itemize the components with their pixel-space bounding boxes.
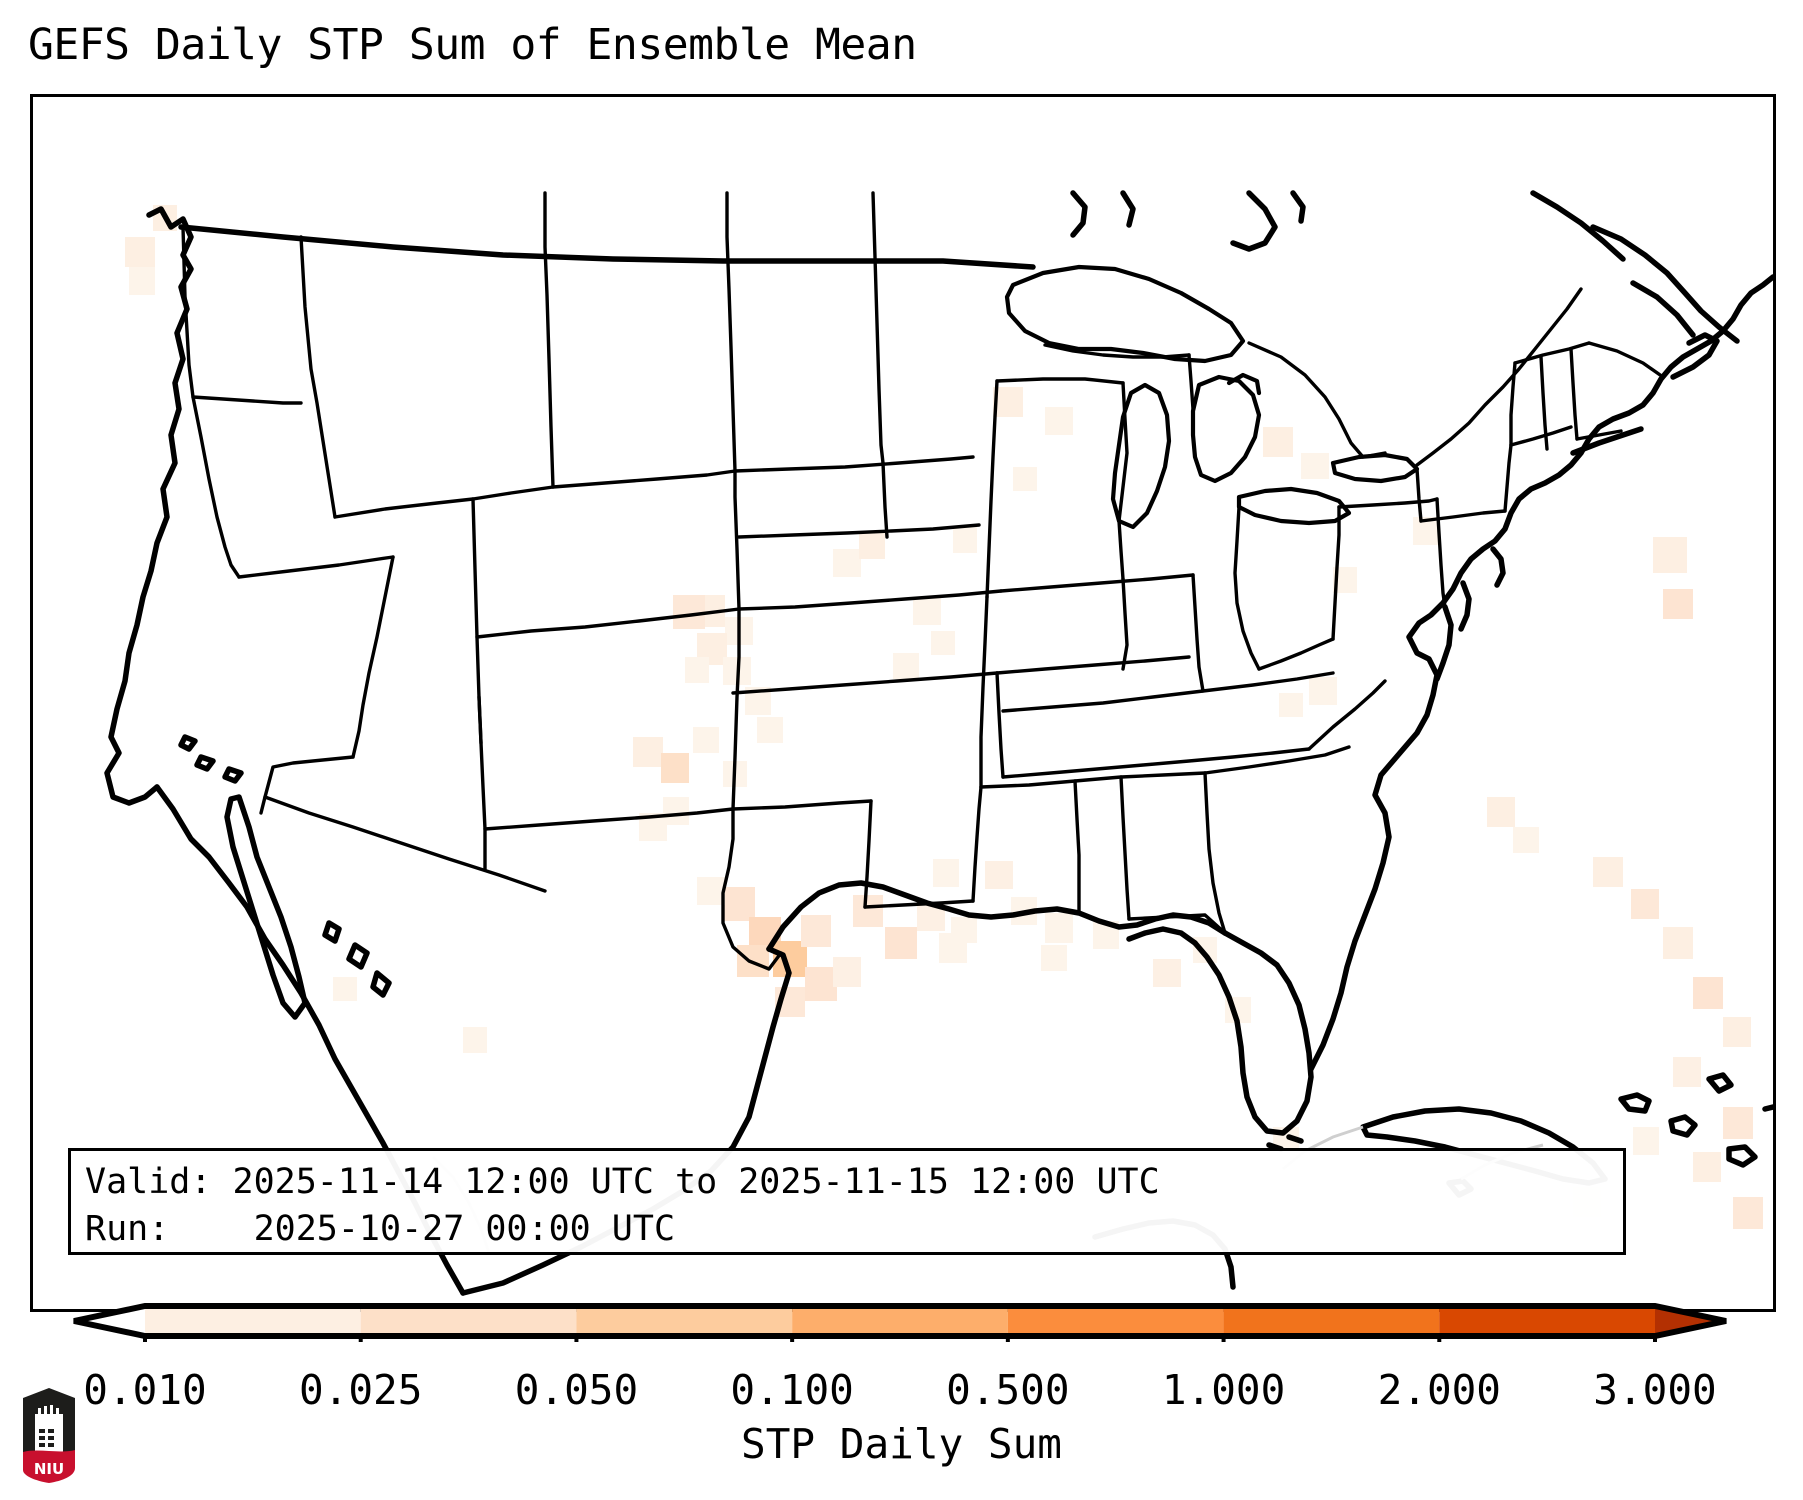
weather-map-figure: GEFS Daily STP Sum of Ensemble Mean .coa…	[0, 0, 1803, 1500]
colorbar-band	[145, 1306, 361, 1336]
colorbar-tick-label: 0.025	[299, 1368, 422, 1412]
colorbar-tick-label: 3.000	[1593, 1368, 1716, 1412]
state-boundaries	[183, 193, 1663, 969]
colorbar-tick-labels: 0.0100.0250.0500.1000.5001.0002.0003.000	[0, 1368, 1803, 1418]
map-canvas: .coast { fill:none; stroke:#000; stroke-…	[33, 97, 1773, 1309]
colorbar-bands	[145, 1306, 1655, 1336]
colorbar	[70, 1300, 1730, 1342]
colorbar-band	[576, 1306, 792, 1336]
figure-title: GEFS Daily STP Sum of Ensemble Mean	[28, 16, 917, 74]
niu-logo-text: NIU	[34, 1460, 64, 1478]
colorbar-band	[1224, 1306, 1440, 1336]
run-time-line: Run: 2025-10-27 00:00 UTC	[85, 1206, 1609, 1253]
colorbar-tick-label: 2.000	[1378, 1368, 1501, 1412]
colorbar-band	[361, 1306, 577, 1336]
colorbar-canvas	[70, 1300, 1730, 1342]
colorbar-tick-label: 1.000	[1162, 1368, 1285, 1412]
valid-run-info-box: Valid: 2025-11-14 12:00 UTC to 2025-11-1…	[68, 1148, 1626, 1255]
map-panel: .coast { fill:none; stroke:#000; stroke-…	[30, 94, 1776, 1312]
great-lakes	[1007, 267, 1417, 527]
niu-shield-icon: NIU	[20, 1386, 78, 1484]
colorbar-tick-label: 0.010	[83, 1368, 206, 1412]
colorbar-band	[792, 1306, 1008, 1336]
valid-time-line: Valid: 2025-11-14 12:00 UTC to 2025-11-1…	[85, 1159, 1609, 1206]
niu-logo: NIU	[20, 1386, 78, 1484]
colorbar-axis-label: STP Daily Sum	[0, 1420, 1803, 1468]
colorbar-band	[1008, 1306, 1224, 1336]
colorbar-tick-label: 0.050	[515, 1368, 638, 1412]
colorbar-band	[1439, 1306, 1655, 1336]
colorbar-tick-label: 0.100	[730, 1368, 853, 1412]
colorbar-tick-label: 0.500	[946, 1368, 1069, 1412]
